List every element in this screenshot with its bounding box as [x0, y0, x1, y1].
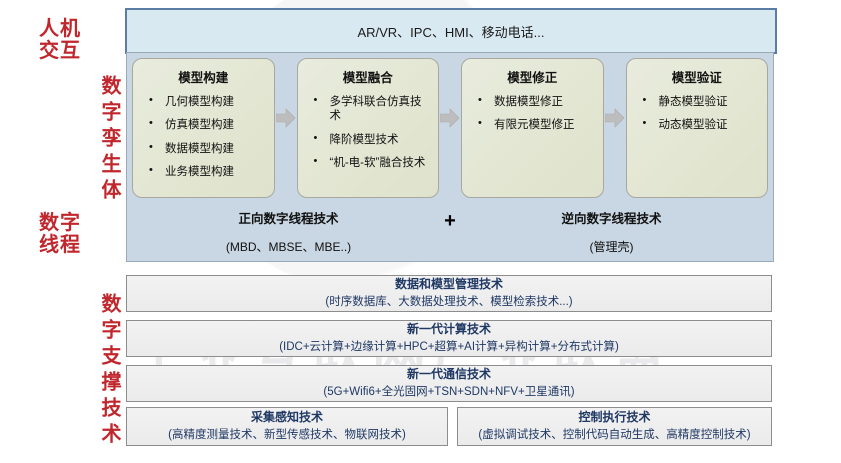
right-arrow-icon: [605, 108, 625, 128]
stage-item-list: 数据模型修正 有限元模型修正: [468, 95, 597, 133]
support-row-title: 新一代计算技术: [407, 322, 491, 338]
support-row-next-gen-computing[interactable]: 新一代计算技术 (IDC+云计算+边缘计算+HPC+超算+AI计算+异构计算+分…: [126, 320, 772, 357]
rail-hmi-line1: 人机: [0, 18, 120, 40]
rail-hmi-line2: 交互: [0, 40, 120, 62]
list-item: 数据模型构建: [147, 142, 266, 156]
support-row-subtitle: (IDC+云计算+边缘计算+HPC+超算+AI计算+异构计算+分布式计算): [279, 340, 619, 356]
right-arrow-icon: [440, 108, 460, 128]
support-row-data-model-management[interactable]: 数据和模型管理技术 (时序数据库、大数据处理技术、模型检索技术...): [126, 275, 772, 312]
stage-item-list: 多学科联合仿真技术 降阶模型技术 “机-电-软”融合技术: [304, 95, 433, 171]
arrow-connector-2: [439, 58, 461, 198]
stage-box-model-fusion[interactable]: 模型融合 多学科联合仿真技术 降阶模型技术 “机-电-软”融合技术: [297, 58, 440, 198]
list-item: 几何模型构建: [147, 95, 266, 109]
list-item: “机-电-软”融合技术: [312, 156, 431, 170]
stage-box-model-correction[interactable]: 模型修正 数据模型修正 有限元模型修正: [461, 58, 604, 198]
reverse-thread-subtitle: (管理壳): [450, 238, 773, 255]
support-row-title: 控制执行技术: [578, 410, 650, 426]
list-item: 数据模型修正: [476, 95, 595, 109]
right-arrow-icon: [276, 108, 296, 128]
rail-thread-line1: 数字: [0, 212, 120, 234]
stage-title: 模型修正: [468, 67, 597, 86]
reverse-thread-column: 逆向数字线程技术 (管理壳): [450, 208, 773, 255]
support-row-control-execution[interactable]: 控制执行技术 (虚拟调试技术、控制代码自动生成、高精度控制技术): [457, 407, 772, 446]
human-machine-interaction-banner: AR/VR、IPC、HMI、移动电话...: [125, 8, 777, 54]
rail-label-digital-support-tech: 数字支撑技术: [0, 285, 120, 457]
reverse-thread-title: 逆向数字线程技术: [450, 208, 773, 227]
support-row-title: 新一代通信技术: [407, 367, 491, 383]
list-item: 业务模型构建: [147, 165, 266, 179]
stage-box-model-verification[interactable]: 模型验证 静态模型验证 动态模型验证: [626, 58, 769, 198]
stage-item-list: 静态模型验证 动态模型验证: [633, 95, 762, 133]
arrow-connector-1: [275, 58, 297, 198]
forward-thread-subtitle: (MBD、MBSE、MBE..): [127, 238, 450, 255]
banner-label: AR/VR、IPC、HMI、移动电话...: [357, 22, 544, 41]
list-item: 有限元模型修正: [476, 118, 595, 132]
support-row-next-gen-communication[interactable]: 新一代通信技术 (5G+Wifi6+全光固网+TSN+SDN+NFV+卫星通讯): [126, 365, 772, 402]
support-row-title: 采集感知技术: [251, 410, 323, 426]
stage-item-list: 几何模型构建 仿真模型构建 数据模型构建 业务模型构建: [139, 95, 268, 180]
stage-title: 模型构建: [139, 67, 268, 86]
list-item: 静态模型验证: [641, 95, 760, 109]
support-row-subtitle: (5G+Wifi6+全光固网+TSN+SDN+NFV+卫星通讯): [323, 385, 574, 401]
list-item: 多学科联合仿真技术: [312, 95, 431, 124]
plus-sign-icon: +: [444, 211, 456, 231]
stage-title: 模型融合: [304, 67, 433, 86]
support-row-subtitle: (高精度测量技术、新型传感技术、物联网技术): [168, 428, 406, 444]
rail-label-digital-thread: 数字 线程: [0, 212, 120, 257]
stage-title: 模型验证: [633, 67, 762, 86]
arrow-connector-3: [604, 58, 626, 198]
list-item: 动态模型验证: [641, 118, 760, 132]
diagram-main-column: AR/VR、IPC、HMI、移动电话... 正向数字线程技术 (MBD、MBSE…: [120, 0, 841, 463]
forward-thread-column: 正向数字线程技术 (MBD、MBSE、MBE..): [127, 208, 450, 255]
stage-box-model-construction[interactable]: 模型构建 几何模型构建 仿真模型构建 数据模型构建 业务模型构建: [132, 58, 275, 198]
list-item: 降阶模型技术: [312, 133, 431, 147]
rail-label-digital-twin: 数字孪生体: [0, 70, 120, 210]
forward-thread-title: 正向数字线程技术: [127, 208, 450, 227]
left-category-rail: 人机 交互 数字孪生体 数字 线程 数字支撑技术: [0, 0, 120, 463]
rail-thread-line2: 线程: [0, 234, 120, 256]
rail-label-human-machine-interaction: 人机 交互: [0, 18, 120, 63]
support-row-subtitle: (时序数据库、大数据处理技术、模型检索技术...): [325, 295, 572, 311]
list-item: 仿真模型构建: [147, 118, 266, 132]
support-row-subtitle: (虚拟调试技术、控制代码自动生成、高精度控制技术): [478, 428, 750, 444]
support-row-title: 数据和模型管理技术: [395, 277, 503, 293]
support-row-sensing-acquisition[interactable]: 采集感知技术 (高精度测量技术、新型传感技术、物联网技术): [126, 407, 448, 446]
digital-twin-stage-row: 模型构建 几何模型构建 仿真模型构建 数据模型构建 业务模型构建 模型融合 多学…: [132, 58, 768, 198]
